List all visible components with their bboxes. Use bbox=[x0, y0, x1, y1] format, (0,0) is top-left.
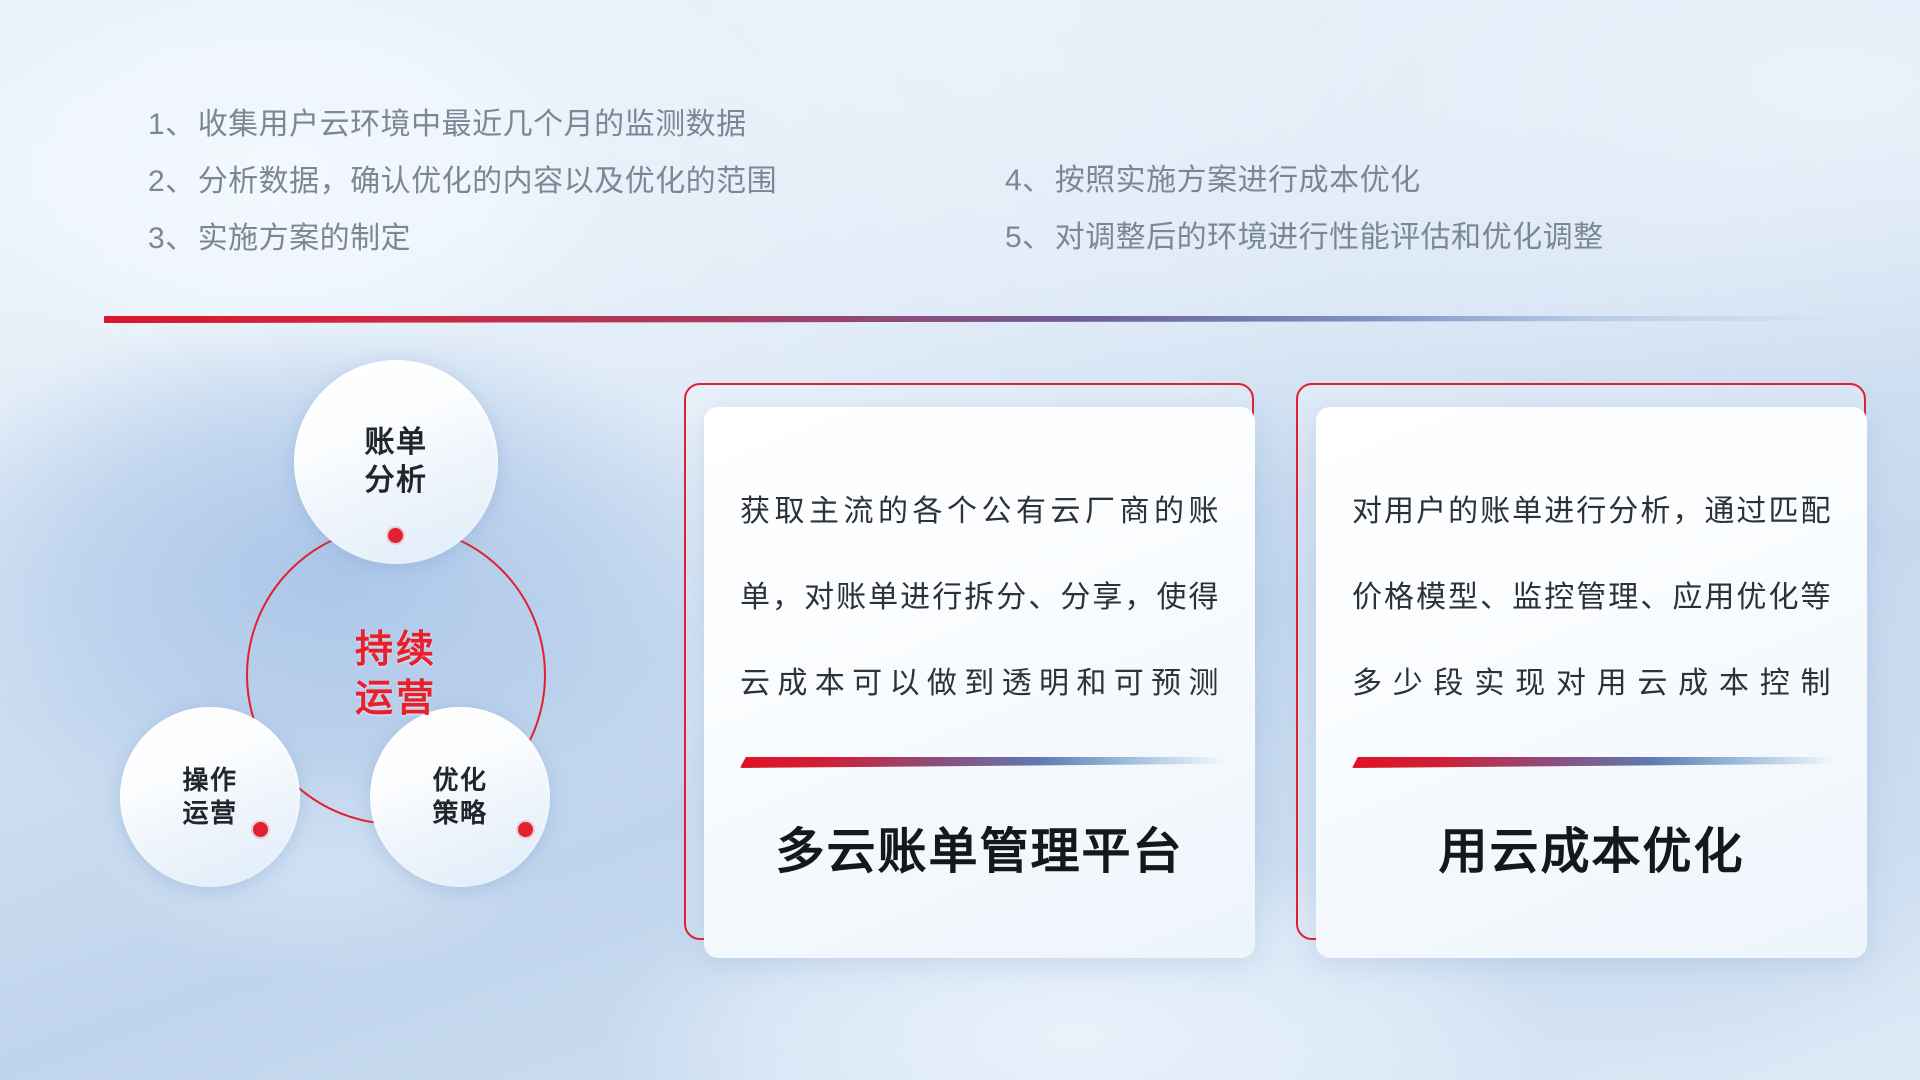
card-description: 对用户的账单进行分析，通过匹配价格模型、监控管理、应用优化等多少段实现对用云成本… bbox=[1352, 469, 1831, 727]
bullet-label: 对调整后的环境进行性能评估和优化调整 bbox=[1055, 209, 1604, 266]
card-divider bbox=[1352, 757, 1835, 768]
bullet-number: 2、 bbox=[148, 153, 196, 210]
bullet-number: 5、 bbox=[1005, 209, 1053, 266]
bullet-number: 1、 bbox=[148, 96, 196, 153]
venn-bubble-line2: 分析 bbox=[365, 462, 428, 500]
card-cloud-cost-optimization[interactable]: 对用户的账单进行分析，通过匹配价格模型、监控管理、应用优化等多少段实现对用云成本… bbox=[1296, 383, 1866, 940]
venn-bubble-line2: 策略 bbox=[432, 797, 487, 830]
card-title: 用云成本优化 bbox=[1352, 812, 1831, 883]
bullet-item: 4、 按照实施方案进行成本优化 bbox=[1005, 152, 1604, 209]
card-divider bbox=[740, 757, 1223, 768]
bullet-label: 实施方案的制定 bbox=[198, 210, 412, 267]
bullet-number: 4、 bbox=[1005, 152, 1053, 209]
venn-bubble-line1: 账单 bbox=[365, 424, 428, 462]
venn-bubble-line2: 运营 bbox=[182, 797, 237, 830]
bullet-lists: 1、 收集用户云环境中最近几个月的监测数据 2、 分析数据，确认优化的内容以及优… bbox=[0, 0, 1920, 250]
bullet-label: 收集用户云环境中最近几个月的监测数据 bbox=[198, 96, 747, 153]
venn-bubble-line1: 优化 bbox=[432, 764, 487, 797]
card-title: 多云账单管理平台 bbox=[740, 812, 1219, 883]
bullet-item: 5、 对调整后的环境进行性能评估和优化调整 bbox=[1005, 209, 1604, 266]
card-description: 获取主流的各个公有云厂商的账单，对账单进行拆分、分享，使得云成本可以做到透明和可… bbox=[740, 469, 1219, 727]
venn-diagram: 账单 分析 操作 运营 优化 策略 持续 运营 bbox=[98, 360, 618, 930]
card-inner-surface: 对用户的账单进行分析，通过匹配价格模型、监控管理、应用优化等多少段实现对用云成本… bbox=[1316, 407, 1867, 958]
bullet-column-left: 1、 收集用户云环境中最近几个月的监测数据 2、 分析数据，确认优化的内容以及优… bbox=[148, 96, 777, 267]
bullet-column-right: 4、 按照实施方案进行成本优化 5、 对调整后的环境进行性能评估和优化调整 bbox=[1005, 152, 1604, 266]
card-multi-cloud-bill-platform[interactable]: 获取主流的各个公有云厂商的账单，对账单进行拆分、分享，使得云成本可以做到透明和可… bbox=[684, 383, 1254, 940]
bullet-item: 2、 分析数据，确认优化的内容以及优化的范围 bbox=[148, 153, 777, 210]
bullet-label: 按照实施方案进行成本优化 bbox=[1055, 152, 1421, 209]
bullet-item: 3、 实施方案的制定 bbox=[148, 210, 777, 267]
venn-bubble-line1: 操作 bbox=[182, 764, 237, 797]
card-inner-surface: 获取主流的各个公有云厂商的账单，对账单进行拆分、分享，使得云成本可以做到透明和可… bbox=[704, 407, 1255, 958]
bullet-item: 1、 收集用户云环境中最近几个月的监测数据 bbox=[148, 96, 777, 153]
venn-node-dot-bottom-left bbox=[253, 822, 268, 837]
venn-bubble-operation-ops[interactable]: 操作 运营 bbox=[120, 707, 300, 887]
venn-node-dot-top bbox=[388, 528, 403, 543]
venn-node-dot-bottom-right bbox=[518, 822, 533, 837]
bullet-number: 3、 bbox=[148, 210, 196, 267]
bullet-label: 分析数据，确认优化的内容以及优化的范围 bbox=[198, 153, 778, 210]
venn-bubble-optimization-strategy[interactable]: 优化 策略 bbox=[370, 707, 550, 887]
